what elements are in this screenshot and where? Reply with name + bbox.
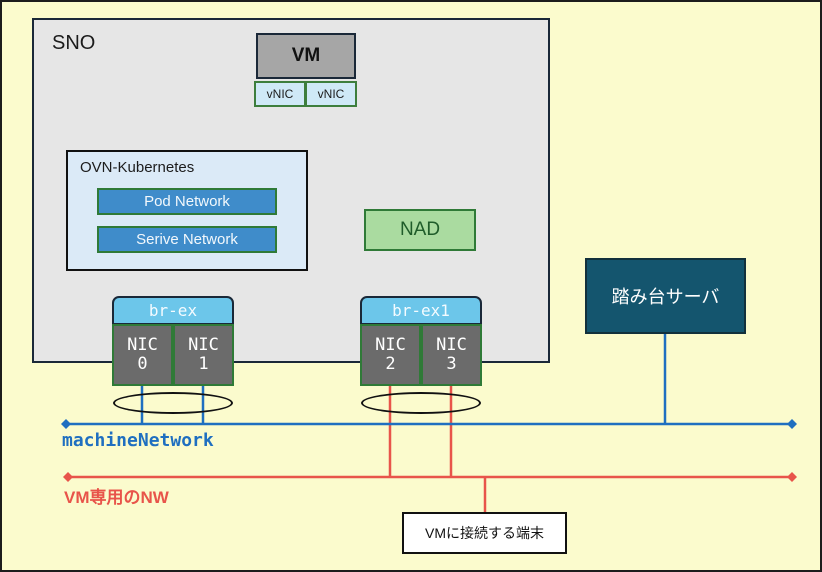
vnic-left: vNIC (254, 81, 306, 107)
nic-1-label-line1: NIC (188, 336, 219, 355)
machine-network-label: machineNetwork (62, 430, 214, 451)
bastion-server-box: 踏み台サーバ (585, 258, 746, 334)
vm-network-bus-start-marker (63, 472, 73, 482)
nic-3-box: NIC 3 (421, 324, 482, 386)
pod-network-box: Pod Network (97, 188, 277, 215)
nic-3-label-line2: 3 (446, 355, 456, 374)
vm-network-bus-end-marker (787, 472, 797, 482)
nic-2-label-line1: NIC (375, 336, 406, 355)
nic-0-box: NIC 0 (112, 324, 173, 386)
nic-0-label-line2: 0 (137, 355, 147, 374)
nic-2-label-line2: 2 (385, 355, 395, 374)
serive-network-box: Serive Network (97, 226, 277, 253)
sno-label: SNO (52, 32, 95, 55)
client-terminal-box: VMに接続する端末 (402, 512, 567, 554)
vm-network-label: VM専用のNW (64, 483, 169, 508)
nic-0-label-line1: NIC (127, 336, 158, 355)
ovn-kubernetes-label: OVN-Kubernetes (80, 159, 194, 176)
machine-network-bus-end-marker (787, 419, 797, 429)
nic-1-label-line2: 1 (198, 355, 208, 374)
bond-ellipse-right (361, 392, 481, 414)
vm-box: VM (256, 33, 356, 79)
nad-box: NAD (364, 209, 476, 251)
nic-3-label-line1: NIC (436, 336, 467, 355)
vnic-right: vNIC (305, 81, 357, 107)
machine-network-bus-start-marker (61, 419, 71, 429)
nic-2-box: NIC 2 (360, 324, 421, 386)
diagram-canvas: SNO VM vNIC vNIC OVN-Kubernetes Pod Netw… (0, 0, 822, 572)
bond-ellipse-left (113, 392, 233, 414)
nic-1-box: NIC 1 (173, 324, 234, 386)
br-ex-box: br-ex (112, 296, 234, 325)
br-ex1-box: br-ex1 (360, 296, 482, 325)
